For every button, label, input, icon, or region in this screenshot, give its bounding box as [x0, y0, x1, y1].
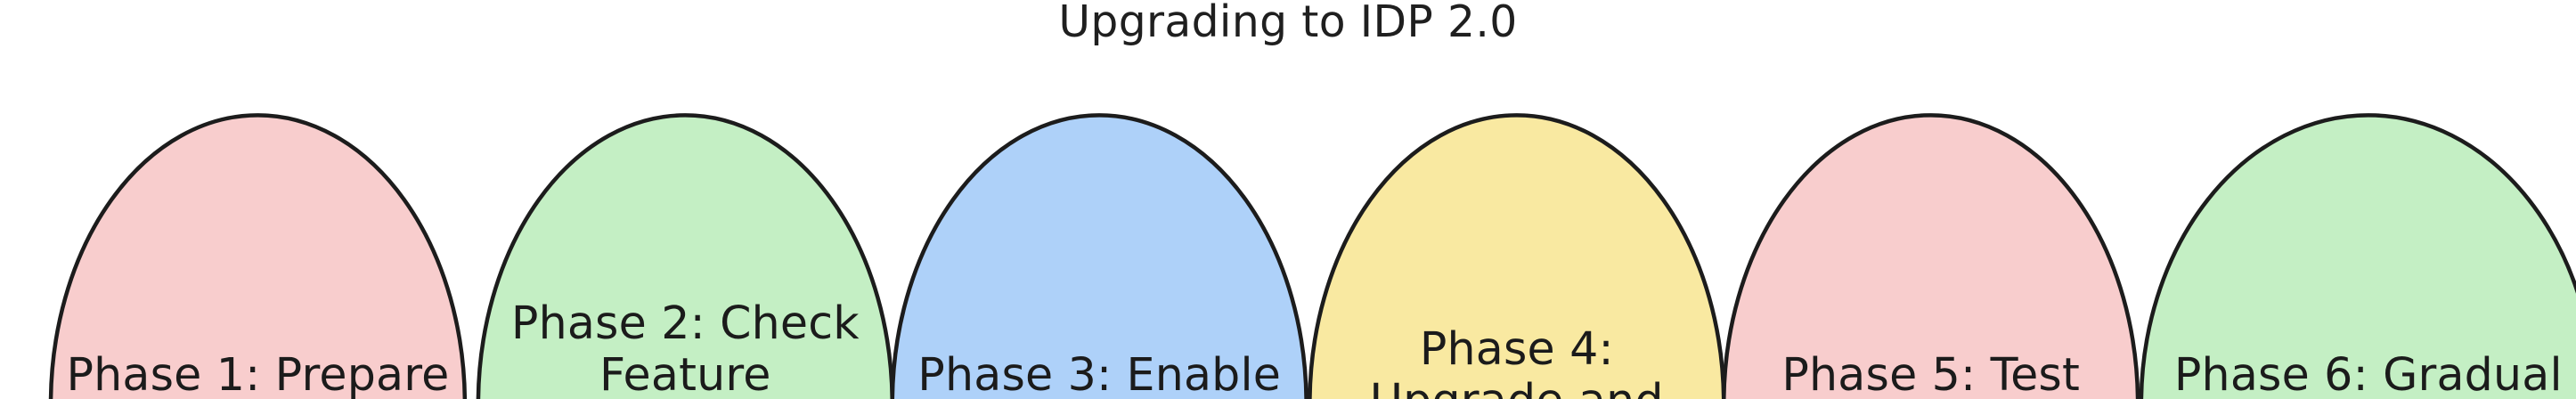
node-phase2[interactable]: Phase 2: CheckFeatureCompatibilitywith 1… — [478, 115, 893, 399]
node-phase6-label: Phase 6: GradualRollout — [2174, 348, 2563, 399]
diagram-title: Upgrading to IDP 2.0 — [1058, 0, 1517, 47]
node-phase3[interactable]: Phase 3: EnableFeature Flag — [893, 115, 1307, 399]
node-phase1[interactable]: Phase 1: Prepare& Assess — [51, 115, 465, 399]
node-phase6[interactable]: Phase 6: GradualRollout — [2141, 115, 2576, 399]
node-phase4[interactable]: Phase 4:Upgrade andMove Entities — [1309, 115, 1724, 399]
node-phase5-label: Phase 5: Testand Validate — [1781, 348, 2080, 399]
node-phase5[interactable]: Phase 5: Testand Validate — [1724, 115, 2138, 399]
node-phase1-label: Phase 1: Prepare& Assess — [66, 348, 449, 399]
diagram-canvas: Upgrading to IDP 2.0 Phase 1: Prepare& A… — [0, 0, 2576, 399]
node-phase3-label: Phase 3: EnableFeature Flag — [917, 348, 1281, 399]
flowchart-svg: Upgrading to IDP 2.0 Phase 1: Prepare& A… — [0, 0, 2576, 399]
